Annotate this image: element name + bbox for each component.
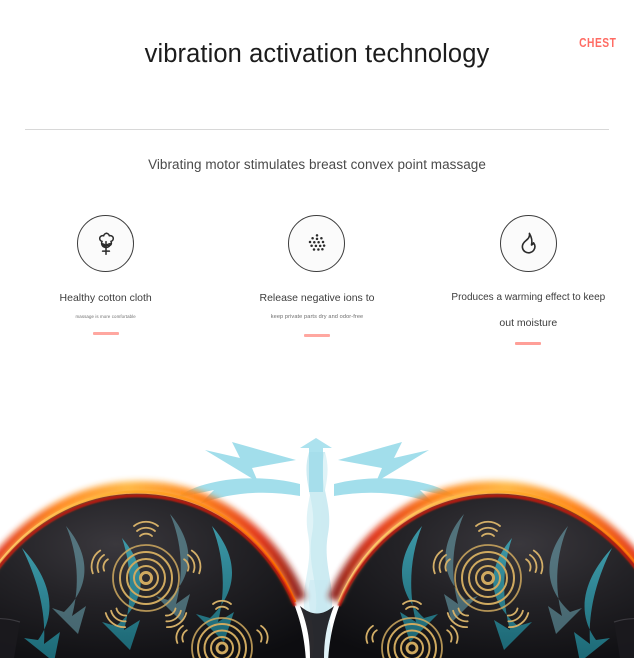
- feature-accent-rule: [304, 334, 330, 337]
- chest-category-tag: CHEST: [579, 36, 616, 50]
- flame-icon: [511, 227, 545, 261]
- product-feature-page: vibration activation technology CHEST Vi…: [0, 0, 634, 658]
- negative-ion-dots-icon: [300, 227, 334, 261]
- feature-caption: Produces a warming effect to keep: [423, 291, 634, 305]
- feature-text-block: Healthy cotton cloth massage is more com…: [0, 291, 211, 335]
- feature-item: Produces a warming effect to keep out mo…: [423, 215, 634, 345]
- feature-caption: Release negative ions to: [211, 291, 422, 305]
- product-hero-image: [0, 430, 634, 658]
- feature-icon-badge: [288, 215, 345, 272]
- feature-caption: Healthy cotton cloth: [0, 291, 211, 305]
- feature-accent-rule: [93, 332, 119, 335]
- feature-list: Healthy cotton cloth massage is more com…: [0, 215, 634, 345]
- feature-subcaption: out moisture: [423, 316, 634, 331]
- feature-icon-badge: [500, 215, 557, 272]
- header-divider: [25, 129, 609, 130]
- page-header: vibration activation technology CHEST: [0, 0, 634, 118]
- feature-item: Release negative ions to keep private pa…: [211, 215, 422, 345]
- page-title: vibration activation technology: [0, 40, 634, 69]
- page-subtitle: Vibrating motor stimulates breast convex…: [0, 157, 634, 172]
- feature-item: Healthy cotton cloth massage is more com…: [0, 215, 211, 345]
- feature-text-block: Release negative ions to keep private pa…: [211, 291, 422, 337]
- feature-accent-rule: [515, 342, 541, 345]
- feature-icon-badge: [77, 215, 134, 272]
- feature-text-block: Produces a warming effect to keep out mo…: [423, 291, 634, 345]
- hero-illustration: [0, 430, 634, 658]
- feature-subcaption: keep private parts dry and odor-free: [211, 314, 422, 322]
- cotton-plant-icon: [89, 227, 123, 261]
